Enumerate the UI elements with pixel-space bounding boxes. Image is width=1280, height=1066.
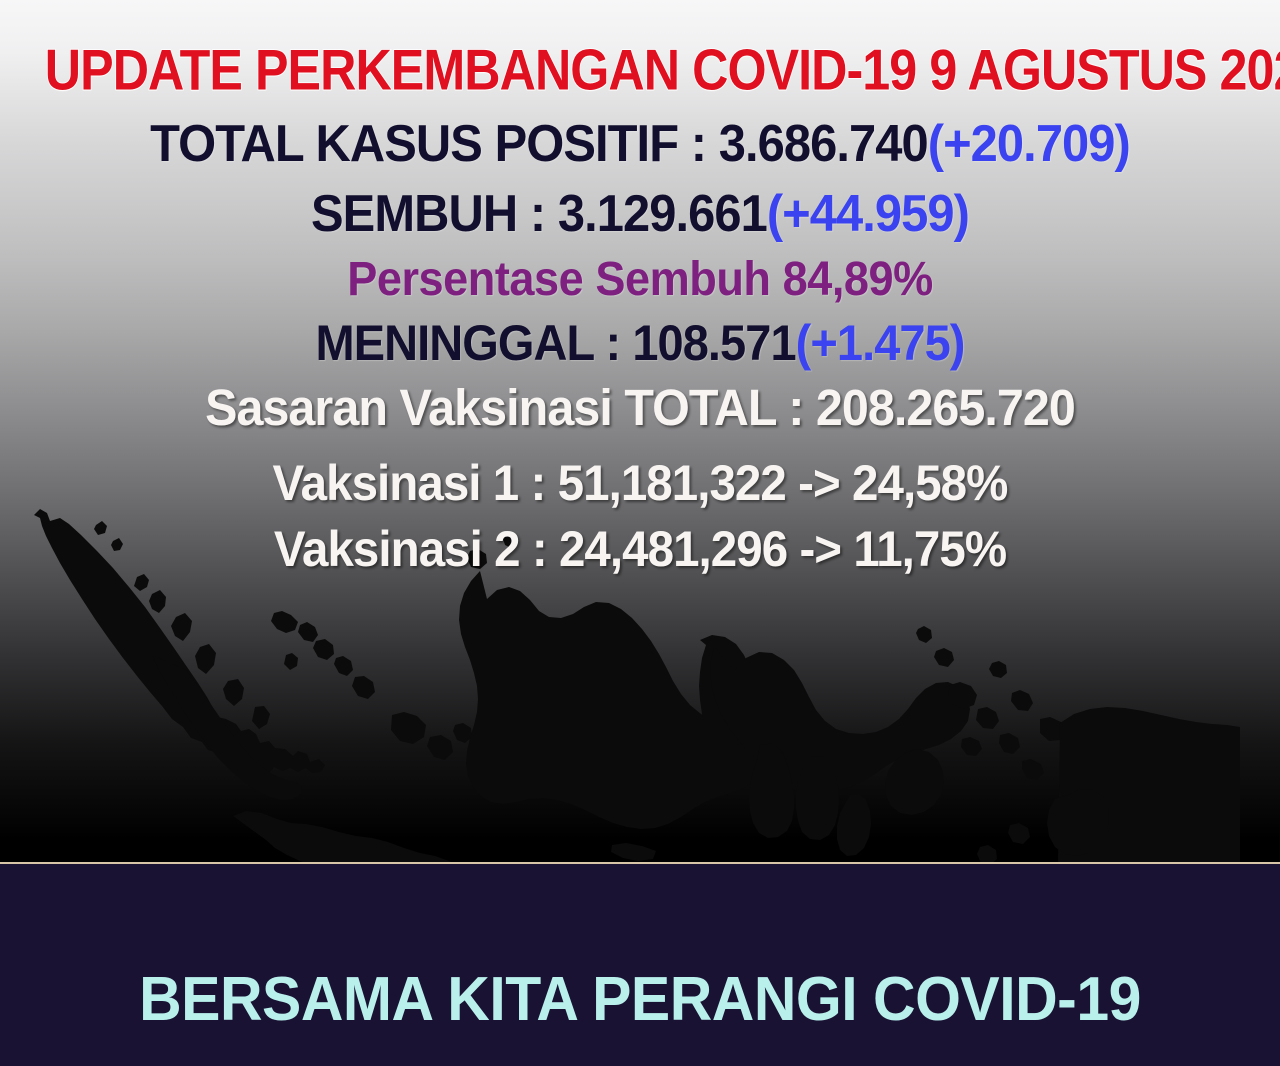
stat-vaksinasi-2: Vaksinasi 2 : 24,481,296 -> 11,75% <box>32 524 1248 574</box>
sembuh-label: SEMBUH : <box>311 185 558 243</box>
sembuh-delta: (+44.959) <box>767 185 969 243</box>
banner-slogan: BERSAMA KITA PERANGI COVID-19 <box>32 964 1248 1035</box>
statistics-stack: UPDATE PERKEMBANGAN COVID-19 9 AGUSTUS 2… <box>0 0 1280 600</box>
vaksinasi2-percent: 11,75% <box>853 521 1006 577</box>
positif-label: TOTAL KASUS POSITIF : <box>150 115 719 173</box>
meninggal-delta: (+1.475) <box>796 315 965 371</box>
stat-sembuh: SEMBUH : 3.129.661(+44.959) <box>38 188 1241 240</box>
stat-sasaran-vaksinasi: Sasaran Vaksinasi TOTAL : 208.265.720 <box>32 382 1248 433</box>
vaksinasi2-label: Vaksinasi 2 : <box>274 521 559 577</box>
sasaran-value: 208.265.720 <box>816 379 1075 436</box>
vaksinasi1-arrow: -> <box>786 455 852 511</box>
bottom-banner: BERSAMA KITA PERANGI COVID-19 <box>0 862 1280 1066</box>
sembuh-value: 3.129.661 <box>558 185 767 243</box>
meninggal-label: MENINGGAL : <box>315 315 632 371</box>
stat-persentase-sembuh: Persentase Sembuh 84,89% <box>38 256 1241 304</box>
vaksinasi1-label: Vaksinasi 1 : <box>273 455 558 511</box>
stat-vaksinasi-1: Vaksinasi 1 : 51,181,322 -> 24,58% <box>32 458 1248 508</box>
vaksinasi2-arrow: -> <box>787 521 853 577</box>
vaksinasi2-value: 24,481,296 <box>559 521 787 577</box>
meninggal-value: 108.571 <box>632 315 795 371</box>
stat-total-kasus-positif: TOTAL KASUS POSITIF : 3.686.740(+20.709) <box>38 118 1241 170</box>
covid-update-poster: UPDATE PERKEMBANGAN COVID-19 9 AGUSTUS 2… <box>0 0 1280 1066</box>
page-title: UPDATE PERKEMBANGAN COVID-19 9 AGUSTUS 2… <box>45 42 1235 99</box>
positif-delta: (+20.709) <box>928 115 1130 173</box>
sasaran-label: Sasaran Vaksinasi TOTAL : <box>205 379 816 436</box>
vaksinasi1-percent: 24,58% <box>852 455 1007 511</box>
vaksinasi1-value: 51,181,322 <box>558 455 786 511</box>
stat-meninggal: MENINGGAL : 108.571(+1.475) <box>38 318 1241 368</box>
positif-value: 3.686.740 <box>719 115 928 173</box>
